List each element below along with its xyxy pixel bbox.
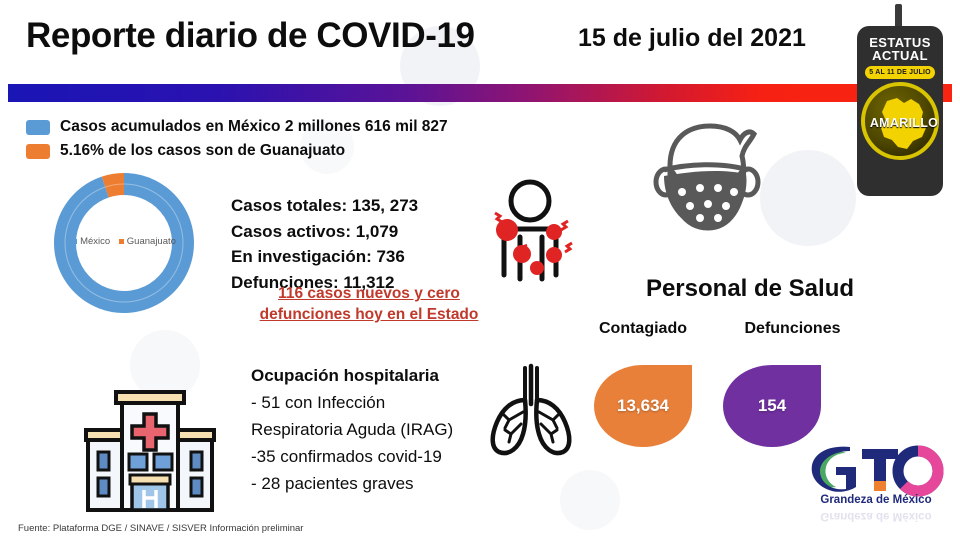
status-lamp-yellow: AMARILLO (861, 82, 939, 160)
cases-donut-chart: México Guanajuato (38, 168, 210, 318)
donut-legend-label-guanajuato: Guanajuato (127, 236, 176, 247)
traffic-light-body: ESTATUS ACTUAL 5 AL 11 DE JULIO AMARILLO (857, 26, 943, 196)
face-mask-icon (630, 112, 790, 262)
page-title: Reporte diario de COVID-19 (26, 16, 475, 56)
background-watermark (560, 470, 620, 530)
highlight-line-1: 116 casos nuevos y cero (249, 283, 489, 304)
personal-salud-value-contagiado: 13,634 (594, 365, 692, 447)
legend-swatch-mexico (26, 120, 50, 135)
hospital-occupancy-title: Ocupación hospitalaria (251, 362, 453, 389)
report-date: 15 de julio del 2021 (578, 24, 806, 53)
status-heading: ESTATUS ACTUAL (857, 36, 943, 62)
state-statistics: Casos totales: 135, 273 Casos activos: 1… (231, 193, 418, 295)
svg-text:Grandeza de México: Grandeza de México (820, 510, 931, 522)
hospital-occupancy-line-1: - 51 con Infección (251, 389, 453, 416)
hospital-building-icon (70, 380, 230, 520)
personal-salud-value-defunciones: 154 (723, 365, 821, 447)
legend-item-mexico: Casos acumulados en México 2 millones 61… (26, 118, 448, 136)
personal-salud-title: Personal de Salud (600, 275, 900, 303)
stat-casos-totales: Casos totales: 135, 273 (231, 193, 418, 219)
infected-person-icon (478, 175, 583, 290)
donut-legend-dot-guanajuato (119, 239, 124, 244)
legend-label-mexico: Casos acumulados en México 2 millones 61… (60, 118, 448, 136)
hospital-occupancy-line-3: -35 confirmados covid-19 (251, 443, 453, 470)
legend-label-guanajuato: 5.16% de los casos son de Guanajuato (60, 142, 345, 160)
gto-logo: Grandeza de México (806, 443, 946, 505)
donut-legend-item-mexico: México (72, 236, 110, 247)
status-heading-line2: ACTUAL (857, 49, 943, 62)
new-cases-highlight: 116 casos nuevos y cero defunciones hoy … (249, 283, 489, 325)
lungs-icon (479, 360, 584, 460)
status-color-label: AMARILLO (865, 116, 943, 130)
gto-reflection-svg: Grandeza de México (806, 505, 946, 531)
donut-chart-legend: México Guanajuato (38, 236, 210, 247)
highlight-line-2: defunciones hoy en el Estado (249, 304, 489, 325)
personal-salud-label-contagiado: Contagiado (573, 320, 713, 338)
footer-source: Fuente: Plataforma DGE / SINAVE / SISVER… (18, 523, 303, 534)
status-traffic-light: ESTATUS ACTUAL 5 AL 11 DE JULIO AMARILLO (851, 4, 949, 200)
personal-salud-label-defunciones: Defunciones (715, 320, 870, 338)
hospital-occupancy-line-2: Respiratoria Aguda (IRAG) (251, 416, 453, 443)
legend-item-guanajuato: 5.16% de los casos son de Guanajuato (26, 142, 345, 160)
header-gradient-divider (8, 84, 952, 102)
hospital-occupancy-line-4: - 28 pacientes graves (251, 470, 453, 497)
covid-daily-report-infographic: Reporte diario de COVID-19 15 de julio d… (0, 0, 960, 540)
donut-legend-item-guanajuato: Guanajuato (119, 236, 176, 247)
gto-tagline: Grandeza de México (820, 494, 931, 505)
hospital-occupancy-block: Ocupación hospitalaria - 51 con Infecció… (251, 362, 453, 497)
donut-legend-label-mexico: México (80, 236, 110, 247)
stat-en-investigacion: En investigación: 736 (231, 244, 418, 270)
gto-logo-reflection: Grandeza de México (806, 505, 946, 531)
stat-casos-activos: Casos activos: 1,079 (231, 219, 418, 245)
legend-swatch-guanajuato (26, 144, 50, 159)
donut-legend-dot-mexico (72, 239, 77, 244)
status-date-range: 5 AL 11 DE JULIO (865, 66, 935, 79)
